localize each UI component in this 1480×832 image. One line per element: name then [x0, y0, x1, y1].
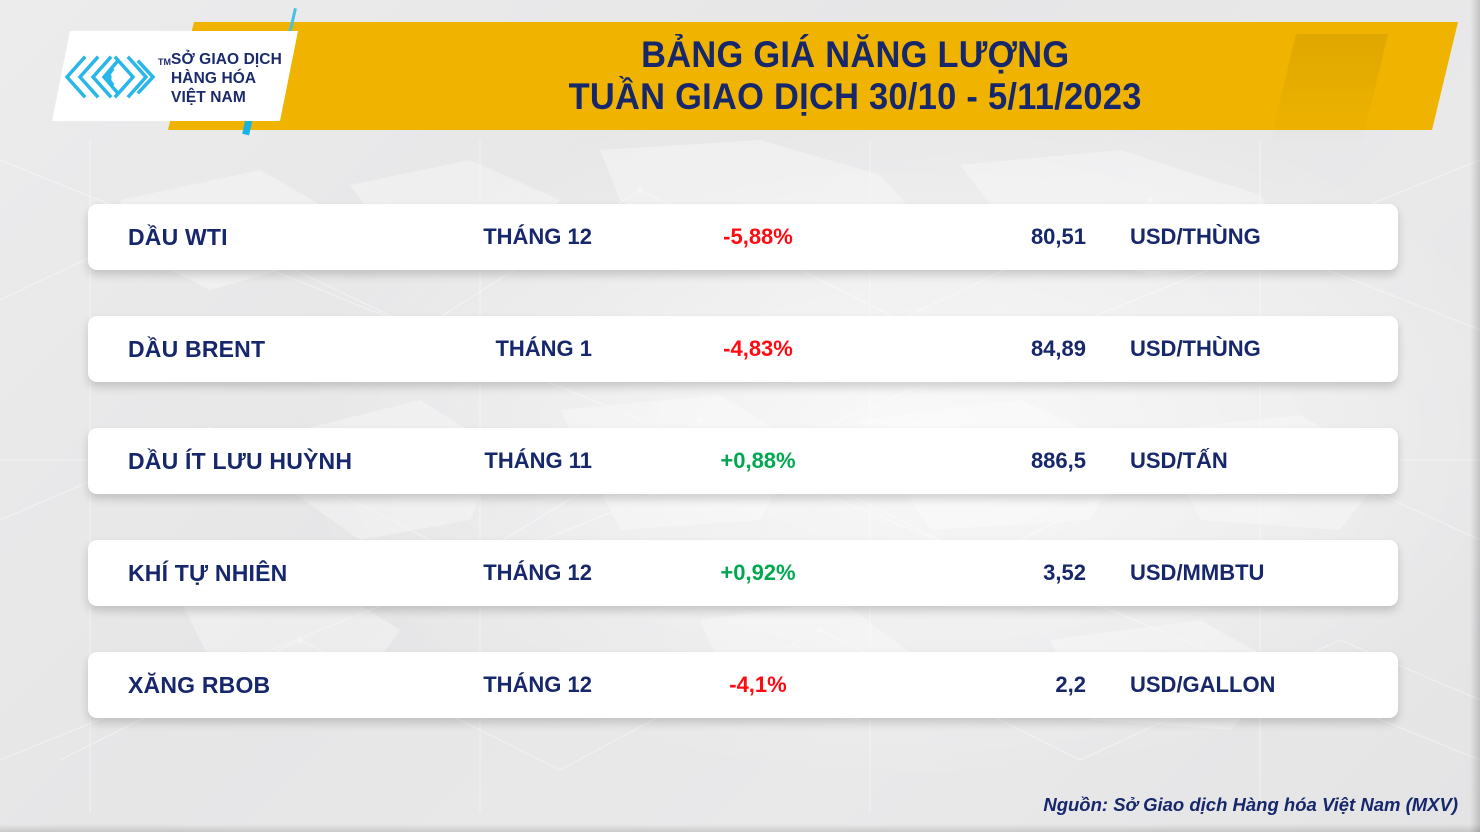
price-unit: USD/GALLON [1130, 672, 1390, 698]
price-table: DẦU WTI THÁNG 12 -5,88% 80,51 USD/THÙNG … [88, 204, 1398, 718]
table-row[interactable]: DẦU ÍT LƯU HUỲNH THÁNG 11 +0,88% 886,5 U… [88, 428, 1398, 494]
change-percent: -4,1% [668, 672, 848, 698]
mxv-chevron-logo-icon [64, 55, 156, 99]
price-value: 886,5 [888, 448, 1086, 474]
logo-plate: TM SỞ GIAO DỊCH HÀNG HÓA VIỆT NAM [52, 31, 298, 121]
brand-name: SỞ GIAO DỊCH HÀNG HÓA VIỆT NAM [171, 51, 282, 108]
header: TM SỞ GIAO DỊCH HÀNG HÓA VIỆT NAM BẢNG G… [0, 0, 1480, 148]
page-title: BẢNG GIÁ NĂNG LƯỢNG TUẦN GIAO DỊCH 30/10… [300, 24, 1410, 128]
contract-month: THÁNG 1 [312, 336, 592, 362]
bottom-edge-shadow [0, 824, 1480, 832]
brand-name-line3: VIỆT NAM [171, 89, 282, 108]
price-value: 84,89 [888, 336, 1086, 362]
table-row[interactable]: DẦU BRENT THÁNG 1 -4,83% 84,89 USD/THÙNG [88, 316, 1398, 382]
brand-name-line1: SỞ GIAO DỊCH [171, 51, 282, 70]
contract-month: THÁNG 12 [312, 224, 592, 250]
trademark-icon: TM [158, 57, 171, 67]
price-unit: USD/THÙNG [1130, 224, 1390, 250]
page-title-line2: TUẦN GIAO DỊCH 30/10 - 5/11/2023 [568, 78, 1141, 116]
page-title-line1: BẢNG GIÁ NĂNG LƯỢNG [641, 36, 1069, 74]
table-row[interactable]: XĂNG RBOB THÁNG 12 -4,1% 2,2 USD/GALLON [88, 652, 1398, 718]
source-note: Nguồn: Sở Giao dịch Hàng hóa Việt Nam (M… [1043, 794, 1458, 816]
change-percent: +0,88% [668, 448, 848, 474]
price-unit: USD/MMBTU [1130, 560, 1390, 586]
table-row[interactable]: KHÍ TỰ NHIÊN THÁNG 12 +0,92% 3,52 USD/MM… [88, 540, 1398, 606]
brand-name-line2: HÀNG HÓA [171, 70, 282, 89]
change-percent: -5,88% [668, 224, 848, 250]
price-value: 2,2 [888, 672, 1086, 698]
table-row[interactable]: DẦU WTI THÁNG 12 -5,88% 80,51 USD/THÙNG [88, 204, 1398, 270]
price-unit: USD/TẤN [1130, 448, 1390, 474]
change-percent: +0,92% [668, 560, 848, 586]
contract-month: THÁNG 11 [312, 448, 592, 474]
price-value: 80,51 [888, 224, 1086, 250]
change-percent: -4,83% [668, 336, 848, 362]
price-unit: USD/THÙNG [1130, 336, 1390, 362]
contract-month: THÁNG 12 [312, 560, 592, 586]
energy-price-board: TM SỞ GIAO DỊCH HÀNG HÓA VIỆT NAM BẢNG G… [0, 0, 1480, 832]
contract-month: THÁNG 12 [312, 672, 592, 698]
price-value: 3,52 [888, 560, 1086, 586]
